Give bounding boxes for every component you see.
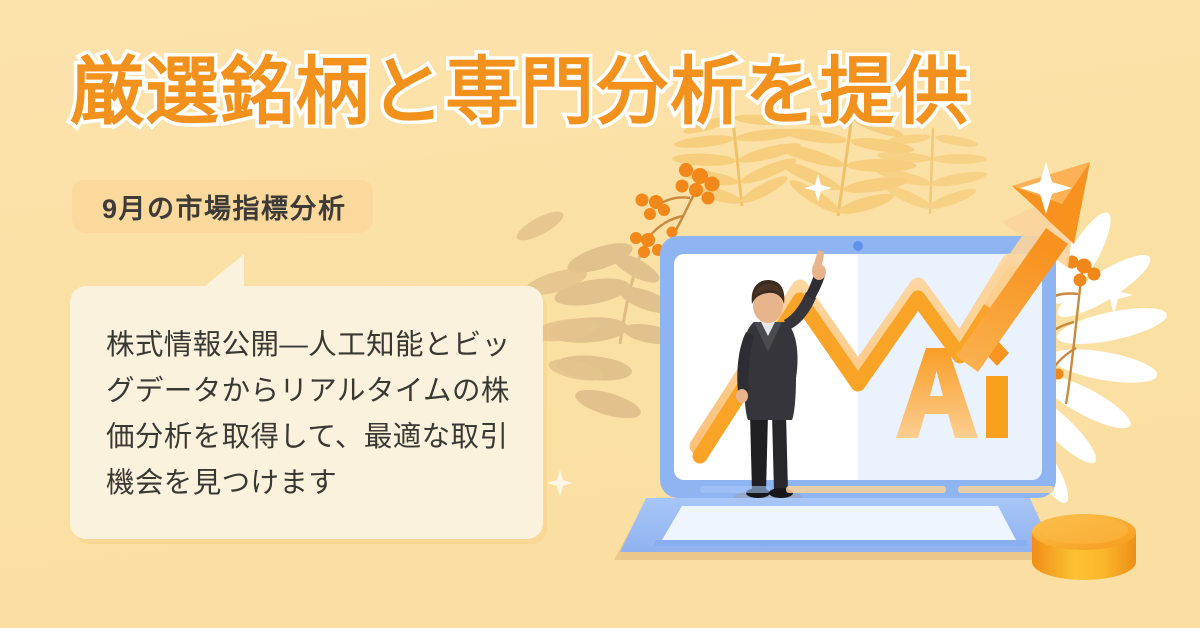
badge-label: 9月の市場指標分析 — [102, 187, 347, 226]
page-title: 厳選銘柄と専門分析を提供 — [70, 52, 1130, 132]
gold-coin — [1032, 514, 1136, 580]
speech-bubble-tail — [200, 254, 244, 290]
banner-canvas: 厳選銘柄と専門分析を提供 9月の市場指標分析 株式情報公開—人工知能とビッグデー… — [0, 0, 1200, 628]
status-badge: 9月の市場指標分析 — [72, 180, 373, 233]
body-text: 株式情報公開—人工知能とビッグデータからリアルタイムの株価分析を取得して、最適な… — [106, 322, 512, 507]
